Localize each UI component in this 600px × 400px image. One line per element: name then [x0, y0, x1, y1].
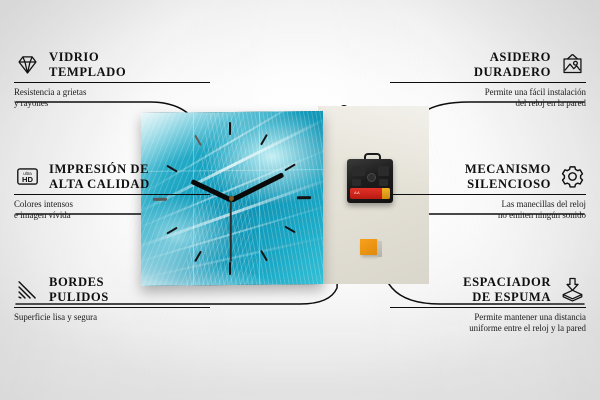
- feature-divider: [390, 82, 586, 83]
- gear-icon: [559, 163, 586, 190]
- feature-espaciador-de-espuma[interactable]: ESPACIADOR DE ESPUMA Permite mantener un…: [390, 275, 586, 334]
- feature-desc-line2: del reloj en la pared: [390, 98, 586, 109]
- feature-desc-line2: no emiten ningún sonido: [390, 210, 586, 221]
- ultra-hd-icon: ultra HD: [14, 163, 41, 190]
- svg-text:HD: HD: [22, 175, 33, 184]
- feature-divider: [14, 194, 210, 195]
- feature-divider: [390, 307, 586, 308]
- foam-spacer-icon: [559, 276, 586, 303]
- feature-divider: [390, 194, 586, 195]
- feature-title-line1: ESPACIADOR: [463, 275, 551, 290]
- feature-title-line1: IMPRESIÓN DE: [49, 162, 150, 177]
- infographic-canvas: AA VIDRIO TEMPLADO Resistencia a: [0, 0, 600, 400]
- feature-bordes-pulidos[interactable]: BORDES PULIDOS Superficie lisa y segura: [14, 275, 210, 323]
- feature-mecanismo-silencioso[interactable]: MECANISMO SILENCIOSO Las manecillas del …: [390, 162, 586, 221]
- diamond-icon: [14, 51, 41, 78]
- feature-title-line1: VIDRIO: [49, 50, 126, 65]
- feature-asidero-duradero[interactable]: ASIDERO DURADERO Permite una fácil insta…: [390, 50, 586, 109]
- feature-title-line2: SILENCIOSO: [465, 177, 551, 192]
- feature-title-line2: ALTA CALIDAD: [49, 177, 150, 192]
- feature-title-line2: PULIDOS: [49, 290, 109, 305]
- feature-divider: [14, 307, 210, 308]
- feature-desc-line2: uniforme entre el reloj y la pared: [390, 323, 586, 334]
- feature-desc-line1: Permite una fácil instalación: [390, 87, 586, 98]
- feature-vidrio-templado[interactable]: VIDRIO TEMPLADO Resistencia a grietas y …: [14, 50, 210, 109]
- feature-title-line1: MECANISMO: [465, 162, 551, 177]
- feature-title-line2: TEMPLADO: [49, 65, 126, 80]
- feature-title-line1: ASIDERO: [474, 50, 551, 65]
- feature-impresion-alta-calidad[interactable]: ultra HD IMPRESIÓN DE ALTA CALIDAD Color…: [14, 162, 210, 221]
- feature-desc-line1: Resistencia a grietas: [14, 87, 210, 98]
- feature-title-line1: BORDES: [49, 275, 109, 290]
- feature-title-line2: DE ESPUMA: [463, 290, 551, 305]
- feature-desc-line2: e imagen vívida: [14, 210, 210, 221]
- feature-desc-line1: Superficie lisa y segura: [14, 312, 210, 323]
- feature-desc-line1: Las manecillas del reloj: [390, 199, 586, 210]
- feature-desc-line1: Permite mantener una distancia: [390, 312, 586, 323]
- feature-desc-line2: y rayones: [14, 98, 210, 109]
- hanging-frame-icon: [559, 51, 586, 78]
- feature-divider: [14, 82, 210, 83]
- feature-desc-line1: Colores intensos: [14, 199, 210, 210]
- feature-title-line2: DURADERO: [474, 65, 551, 80]
- polished-edge-icon: [14, 276, 41, 303]
